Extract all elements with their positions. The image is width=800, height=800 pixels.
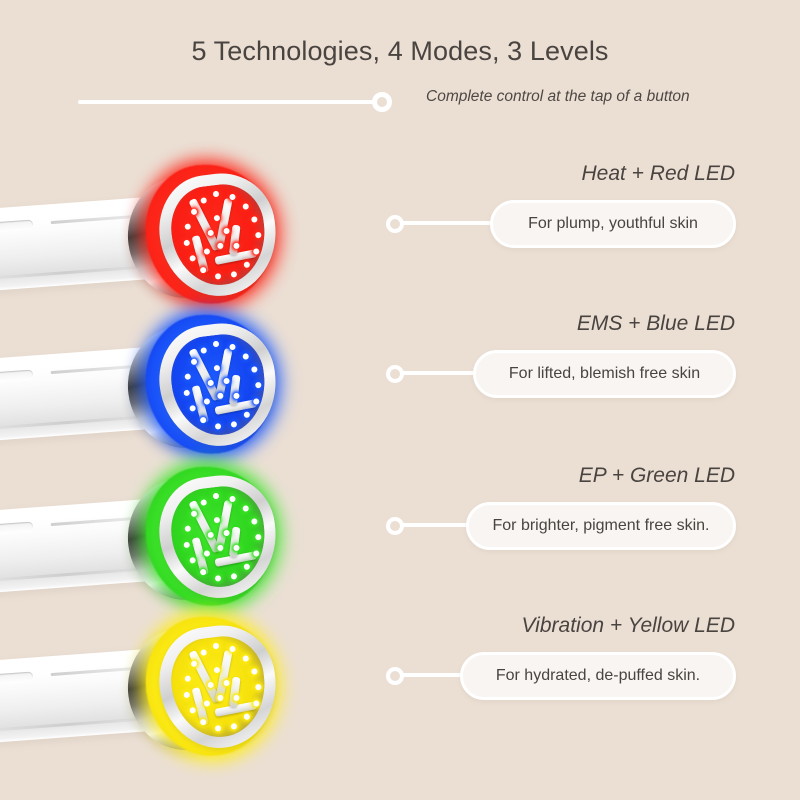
led-dot [204,398,211,405]
led-dot [233,545,240,552]
led-dot [204,700,211,707]
device-treatment-face [166,180,270,291]
led-dot [183,542,190,549]
led-dot [183,390,190,397]
mode-row-ep-green: EP + Green LED For brighter, pigment fre… [0,440,800,610]
device-power-button-icon [0,521,33,534]
device-treatment-face [166,632,270,743]
led-dot [184,675,191,682]
led-dot [255,232,262,239]
device-power-button-icon [0,369,33,382]
led-dot [189,405,196,412]
mode-caption-text: For brighter, pigment free skin. [493,517,710,535]
mode-caption-pill: For hydrated, de-puffed skin. [460,652,736,700]
led-dot [251,518,258,525]
led-dot [255,382,262,389]
led-dot [242,505,249,512]
led-dot [229,646,236,653]
device-illustration-blue [0,306,320,456]
electrode-bar [229,225,241,256]
led-dot [231,421,238,428]
led-dot [189,255,196,262]
connector-line [401,673,464,677]
mode-caption-pill: For brighter, pigment free skin. [466,502,736,550]
led-dot [233,695,240,702]
mode-row-vibration-yellow: Vibration + Yellow LED For hydrated, de-… [0,590,800,760]
led-dot [242,655,249,662]
mode-row-heat-red: Heat + Red LED For plump, youthful skin [0,138,800,308]
device-face-inner [166,632,270,743]
led-dot [231,271,238,278]
led-dot [204,248,211,255]
led-dot [215,423,222,430]
led-dot [184,373,191,380]
led-dot [215,725,222,732]
mode-caption-pill: For plump, youthful skin [490,200,736,248]
led-dot [253,550,260,557]
led-dot [184,223,191,230]
led-dot [184,525,191,532]
led-dot [204,550,211,557]
led-dot [253,398,260,405]
connector-line [401,371,478,375]
mode-connector [386,667,464,685]
led-dot [243,713,250,720]
connector-line [401,221,494,225]
led-dot [200,197,207,204]
led-dot [242,203,249,210]
led-dot [200,347,207,354]
mode-caption-text: For plump, youthful skin [528,215,698,233]
led-dot [183,240,190,247]
mode-row-ems-blue: EMS + Blue LED For lifted, blemish free … [0,288,800,458]
mode-connector [386,517,471,535]
led-dot [231,723,238,730]
mode-heading: Heat + Red LED [581,162,735,186]
led-dot [229,344,236,351]
page-title: 5 Technologies, 4 Modes, 3 Levels [0,36,800,67]
page-subtitle: Complete control at the tap of a button [426,88,690,106]
device-treatment-face [166,330,270,441]
electrode-bar [229,527,241,558]
connector-line [401,523,471,527]
mode-connector [386,215,494,233]
led-dot [243,563,250,570]
led-dot [215,273,222,280]
led-dot [213,493,220,500]
electrode-bar [229,677,241,708]
led-dot [255,534,262,541]
led-dot [251,668,258,675]
device-power-button-icon [0,671,33,684]
led-dot [189,557,196,564]
mode-connector [386,365,478,383]
device-illustration-green [0,458,320,608]
device-illustration-yellow [0,608,320,758]
led-dot [229,496,236,503]
mode-heading: EP + Green LED [579,464,735,488]
led-dot [251,216,258,223]
device-power-button-icon [0,219,33,232]
led-dot [189,707,196,714]
device-face-inner [166,180,270,291]
led-dot [213,191,220,198]
header-connector [78,92,392,112]
device-face-inner [166,330,270,441]
led-dot [253,700,260,707]
mode-heading: Vibration + Yellow LED [522,614,735,638]
header-connector-ring-icon [372,92,392,112]
led-dot [200,649,207,656]
led-dot [251,366,258,373]
header-connector-line [78,100,374,104]
mode-caption-pill: For lifted, blemish free skin [473,350,736,398]
led-dot [233,393,240,400]
electrode-bar [229,375,241,406]
led-dot [231,573,238,580]
device-illustration-red [0,156,320,306]
led-dot [242,353,249,360]
led-dot [253,248,260,255]
mode-heading: EMS + Blue LED [577,312,735,336]
infographic-canvas: 5 Technologies, 4 Modes, 3 Levels Comple… [0,0,800,800]
led-dot [183,692,190,699]
led-dot [213,643,220,650]
device-treatment-face [166,482,270,593]
led-dot [255,684,262,691]
device-face-inner [166,482,270,593]
led-dot [223,680,230,687]
led-dot [233,243,240,250]
led-dot [200,499,207,506]
led-dot [213,341,220,348]
led-dot [215,575,222,582]
led-dot [229,194,236,201]
led-dot [223,378,230,385]
led-dot [223,228,230,235]
mode-caption-text: For hydrated, de-puffed skin. [496,667,700,685]
mode-caption-text: For lifted, blemish free skin [509,365,700,383]
led-dot [243,261,250,268]
led-dot [243,411,250,418]
led-dot [223,530,230,537]
